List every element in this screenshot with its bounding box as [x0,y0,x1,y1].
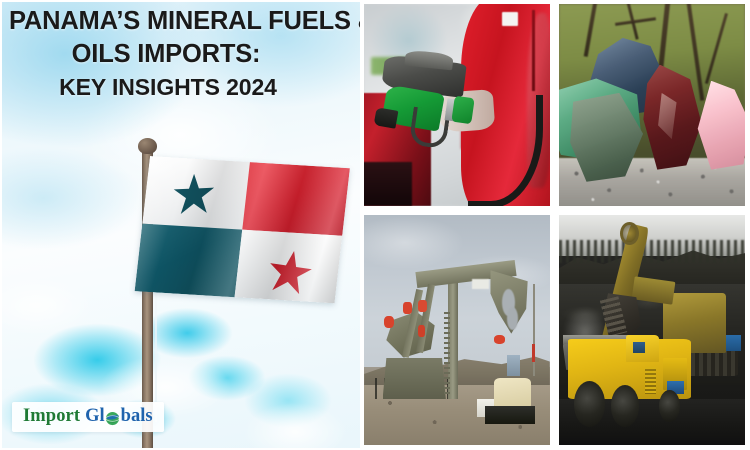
haul-truck-wheel-front [659,390,679,422]
logo-text-gl: Gl [85,406,105,427]
haul-truck-wheel-mid [611,385,639,426]
pumpjack-ladder [444,312,450,395]
jacket-tag [502,12,519,26]
pumpjack-label-plate [472,279,489,288]
marker-pole-red-band [532,344,535,362]
haul-truck-access-steps [645,367,656,395]
photo-cell-fuel [360,0,555,211]
globe-icon [105,411,120,426]
pumpjack-red-fitting-2 [418,300,427,312]
jacket-zipper [532,10,535,91]
page-title: PANAMA’S MINERAL FUELS & OILS IMPORTS: K… [0,6,354,104]
logo-text-bals: bals [121,406,153,427]
flag-blue-star [173,173,215,216]
brand-logo[interactable]: Import Gl bals [12,402,164,432]
photo-grid [360,0,750,450]
storage-tank [494,378,531,408]
haul-truck-wheel-rear [574,381,606,427]
collage-banner: PANAMA’S MINERAL FUELS & OILS IMPORTS: K… [0,0,750,450]
logo-text-import: Import [23,406,80,427]
panama-flag-icon [135,156,350,303]
pumpjack-red-fitting-4 [418,325,425,337]
photo-oil-pumpjack [364,215,550,445]
photo-cell-pumpjack [360,211,555,450]
excavator-boom-pulley [620,222,639,245]
photo-coal-mine-truck [559,215,745,445]
car-shadow [364,162,412,206]
title-line-1: PANAMA’S MINERAL FUELS & [0,6,354,38]
flag-quadrant-red-top-right [242,162,350,236]
flag-quadrant-white-top-left [142,156,250,230]
pumpjack-red-fitting-1 [403,302,412,314]
horsehead-red-tip [494,335,505,344]
photo-mineral-rocks [559,4,745,206]
haul-truck-window [633,342,644,354]
title-line-2: OILS IMPORTS: [0,38,354,71]
title-panel: PANAMA’S MINERAL FUELS & OILS IMPORTS: K… [0,0,360,450]
pumpjack-base [383,358,446,399]
site-signboard [507,355,520,376]
flag-quadrant-blue-bottom-left [135,224,243,298]
title-line-3: KEY INSIGHTS 2024 [0,71,354,104]
photo-gutter-horizontal [360,208,750,214]
tree-line [559,240,745,263]
flag-quadrant-white-bottom-right [235,230,343,304]
equipment-skid [485,406,535,424]
photo-gutter-vertical [553,0,559,450]
flag-red-star [264,248,316,298]
flagpole-finial [138,138,157,154]
photo-cell-coal-mine [555,211,750,450]
marker-pole [533,284,535,376]
photo-cell-minerals [555,0,750,211]
photo-fuel-nozzle [364,4,550,206]
pumpjack-red-fitting-3 [384,316,393,328]
